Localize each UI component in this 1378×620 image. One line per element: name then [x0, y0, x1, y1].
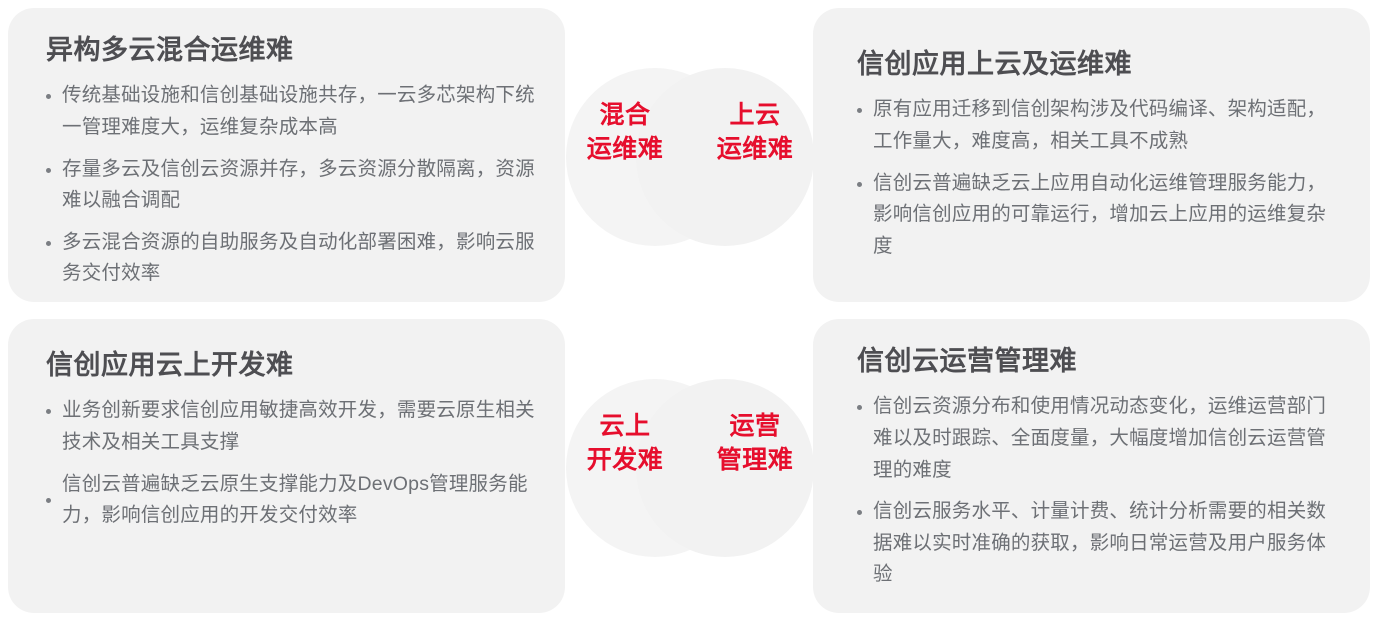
panel-top-right-inner: 信创应用上云及运维难 原有应用迁移到信创架构涉及代码编译、架构适配，工作量大，难… — [813, 8, 1370, 262]
panel-top-right: 信创应用上云及运维难 原有应用迁移到信创架构涉及代码编译、架构适配，工作量大，难… — [813, 8, 1370, 302]
list-item: 传统基础设施和信创基础设施共存，一云多芯架构下统一管理难度大，运维复杂成本高 — [46, 80, 539, 143]
list-item: 多云混合资源的自助服务及自动化部署困难，影响云服务交付效率 — [46, 227, 539, 290]
list-item: 信创云普遍缺乏云原生支撑能力及DevOps管理服务能力，影响信创应用的开发交付效… — [46, 469, 539, 532]
panel-top-left-inner: 异构多云混合运维难 传统基础设施和信创基础设施共存，一云多芯架构下统一管理难度大… — [8, 8, 565, 290]
panel-bottom-left-inner: 信创应用云上开发难 业务创新要求信创应用敏捷高效开发，需要云原生相关技术及相关工… — [8, 319, 565, 532]
venn-label-right: 运营 管理难 — [696, 410, 814, 477]
list-item: 信创云普遍缺乏云上应用自动化运维管理服务能力，影响信创应用的可靠运行，增加云上应… — [857, 168, 1344, 263]
bullet-dot-icon — [857, 405, 862, 410]
list-item: 存量多云及信创云资源并存，多云资源分散隔离，资源难以融合调配 — [46, 154, 539, 217]
list-item: 信创云资源分布和使用情况动态变化，运维运营部门难以及时跟踪、全面度量，大幅度增加… — [857, 391, 1344, 486]
venn-label-right-line1: 上云 — [696, 99, 814, 133]
bullet-list-bottom-right: 信创云资源分布和使用情况动态变化，运维运营部门难以及时跟踪、全面度量，大幅度增加… — [857, 391, 1344, 590]
bullet-dot-icon — [46, 498, 51, 503]
page-title-bottom-left: 信创应用云上开发难 — [46, 349, 539, 381]
bullet-dot-icon — [46, 241, 51, 246]
venn-label-left: 云上 开发难 — [566, 410, 684, 477]
venn-label-left: 混合 运维难 — [566, 99, 684, 166]
panel-top-left: 异构多云混合运维难 传统基础设施和信创基础设施共存，一云多芯架构下统一管理难度大… — [8, 8, 565, 302]
list-item-label: 多云混合资源的自助服务及自动化部署困难，影响云服务交付效率 — [62, 227, 539, 290]
bullet-dot-icon — [46, 409, 51, 414]
list-item-label: 信创云普遍缺乏云原生支撑能力及DevOps管理服务能力，影响信创应用的开发交付效… — [62, 469, 539, 532]
list-item-label: 信创云普遍缺乏云上应用自动化运维管理服务能力，影响信创应用的可靠运行，增加云上应… — [873, 168, 1344, 263]
venn-label-left-line2: 开发难 — [566, 444, 684, 478]
bullet-list-bottom-left: 业务创新要求信创应用敏捷高效开发，需要云原生相关技术及相关工具支撑 信创云普遍缺… — [46, 395, 539, 531]
bullet-dot-icon — [857, 182, 862, 187]
venn-diagram-bottom: 云上 开发难 运营 管理难 — [566, 379, 814, 559]
list-item-label: 业务创新要求信创应用敏捷高效开发，需要云原生相关技术及相关工具支撑 — [62, 395, 539, 458]
list-item-label: 信创云资源分布和使用情况动态变化，运维运营部门难以及时跟踪、全面度量，大幅度增加… — [873, 391, 1344, 486]
venn-label-right-line2: 运维难 — [696, 133, 814, 167]
venn-diagram-top: 混合 运维难 上云 运维难 — [566, 68, 814, 248]
bullet-dot-icon — [46, 168, 51, 173]
venn-label-left-line1: 混合 — [566, 99, 684, 133]
list-item: 原有应用迁移到信创架构涉及代码编译、架构适配，工作量大，难度高，相关工具不成熟 — [857, 94, 1344, 157]
venn-label-left-line1: 云上 — [566, 410, 684, 444]
venn-label-left-line2: 运维难 — [566, 133, 684, 167]
bullet-dot-icon — [857, 108, 862, 113]
page-title-top-right: 信创应用上云及运维难 — [857, 48, 1344, 80]
challenges-diagram: 异构多云混合运维难 传统基础设施和信创基础设施共存，一云多芯架构下统一管理难度大… — [0, 0, 1378, 620]
venn-label-right-line2: 管理难 — [696, 444, 814, 478]
panel-bottom-left: 信创应用云上开发难 业务创新要求信创应用敏捷高效开发，需要云原生相关技术及相关工… — [8, 319, 565, 613]
bullet-dot-icon — [857, 510, 862, 515]
list-item: 信创云服务水平、计量计费、统计分析需要的相关数据难以实时准确的获取，影响日常运营… — [857, 496, 1344, 591]
list-item-label: 信创云服务水平、计量计费、统计分析需要的相关数据难以实时准确的获取，影响日常运营… — [873, 496, 1344, 591]
list-item-label: 传统基础设施和信创基础设施共存，一云多芯架构下统一管理难度大，运维复杂成本高 — [62, 80, 539, 143]
bullet-dot-icon — [46, 94, 51, 99]
bullet-list-top-right: 原有应用迁移到信创架构涉及代码编译、架构适配，工作量大，难度高，相关工具不成熟 … — [857, 94, 1344, 262]
list-item-label: 存量多云及信创云资源并存，多云资源分散隔离，资源难以融合调配 — [62, 154, 539, 217]
venn-label-right: 上云 运维难 — [696, 99, 814, 166]
panel-bottom-right-inner: 信创云运营管理难 信创云资源分布和使用情况动态变化，运维运营部门难以及时跟踪、全… — [813, 319, 1370, 591]
venn-label-right-line1: 运营 — [696, 410, 814, 444]
panel-bottom-right: 信创云运营管理难 信创云资源分布和使用情况动态变化，运维运营部门难以及时跟踪、全… — [813, 319, 1370, 613]
page-title-bottom-right: 信创云运营管理难 — [857, 345, 1344, 377]
page-title-top-left: 异构多云混合运维难 — [46, 34, 539, 66]
list-item-label: 原有应用迁移到信创架构涉及代码编译、架构适配，工作量大，难度高，相关工具不成熟 — [873, 94, 1344, 157]
bullet-list-top-left: 传统基础设施和信创基础设施共存，一云多芯架构下统一管理难度大，运维复杂成本高 存… — [46, 80, 539, 289]
list-item: 业务创新要求信创应用敏捷高效开发，需要云原生相关技术及相关工具支撑 — [46, 395, 539, 458]
